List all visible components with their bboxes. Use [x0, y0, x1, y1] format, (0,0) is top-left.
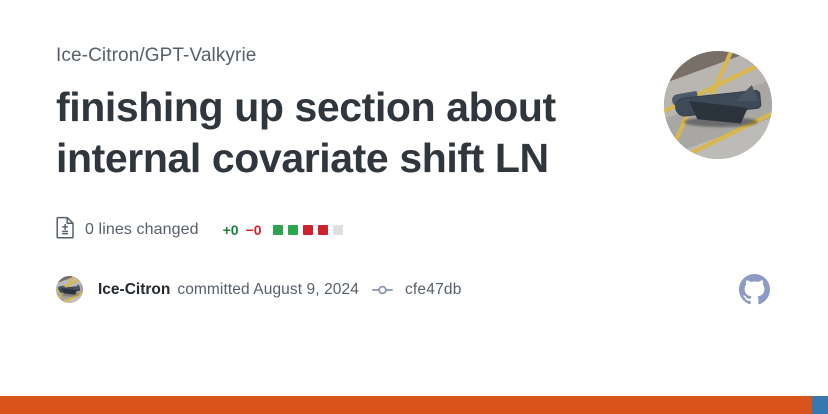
avatar-large[interactable] [664, 51, 772, 159]
accent-bar-blue [812, 396, 828, 414]
diffstat-row: 0 lines changed +0 −0 [56, 216, 772, 244]
diff-block-strip [273, 225, 343, 235]
commit-icon [372, 282, 393, 298]
diff-file-icon [56, 216, 75, 244]
commit-date-text: committed August 9, 2024 [177, 281, 359, 299]
additions-count: +0 [223, 222, 239, 238]
deletion-block [303, 225, 313, 235]
card-header: Ice-Citron/GPT-Valkyrie finishing up sec… [56, 44, 772, 184]
github-logo-icon [739, 274, 770, 305]
bottom-accent-bar [0, 396, 828, 414]
deletion-block [318, 225, 328, 235]
commit-author-name[interactable]: Ice-Citron [98, 281, 170, 299]
diff-counts: +0 −0 [223, 222, 262, 238]
header-text-block: Ice-Citron/GPT-Valkyrie finishing up sec… [56, 44, 596, 184]
byline-left: Ice-Citron committed August 9, 2024 cfe4… [56, 276, 462, 303]
neutral-block [333, 225, 343, 235]
lines-changed-label: 0 lines changed [85, 221, 199, 239]
repository-name[interactable]: Ice-Citron/GPT-Valkyrie [56, 44, 596, 68]
commit-social-card: Ice-Citron/GPT-Valkyrie finishing up sec… [0, 0, 828, 396]
commit-title: finishing up section about internal cova… [56, 82, 596, 184]
accent-bar-orange [0, 396, 812, 414]
avatar-small[interactable] [56, 276, 83, 303]
byline-row: Ice-Citron committed August 9, 2024 cfe4… [56, 274, 772, 305]
addition-block [288, 225, 298, 235]
deletions-count: −0 [246, 222, 262, 238]
commit-sha[interactable]: cfe47db [405, 281, 462, 299]
addition-block [273, 225, 283, 235]
